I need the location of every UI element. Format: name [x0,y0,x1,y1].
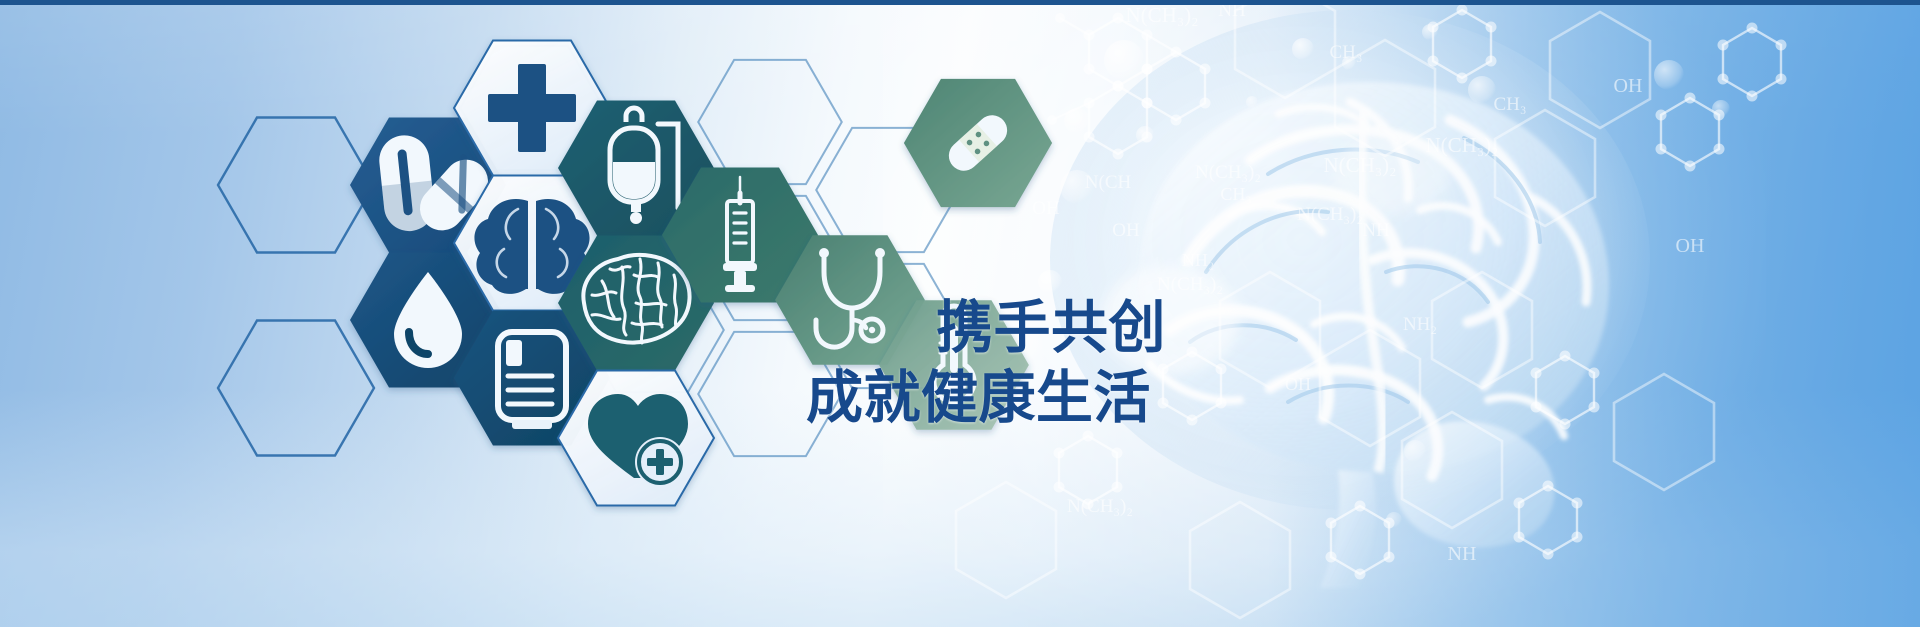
headline-block: 携手共创 成就健康生活 [806,297,1366,431]
headline-line-2: 成就健康生活 [806,367,1366,431]
bokeh-dot [1468,76,1496,104]
bokeh-dot [1654,60,1684,90]
bokeh-dot [1246,96,1258,108]
bokeh-dot [1404,440,1426,462]
bokeh-dot [1342,56,1356,70]
bokeh-dot [1136,126,1154,144]
bokeh-dot [1104,40,1144,80]
top-accent-bar [0,0,1920,5]
bokeh-dot [1712,100,1730,118]
bokeh-dot [1292,38,1314,60]
hexagon-outline-group [218,118,374,456]
headline-line-1: 携手共创 [806,297,1366,361]
hexagon-bandage [904,79,1052,207]
bokeh-dot [1422,24,1438,40]
healthcare-banner: N(CH₃)₂ NH CH₃ N(CH₃)₂ N(CH OH N(CH₃)₂ N… [0,0,1920,627]
bokeh-dot [1386,512,1402,528]
